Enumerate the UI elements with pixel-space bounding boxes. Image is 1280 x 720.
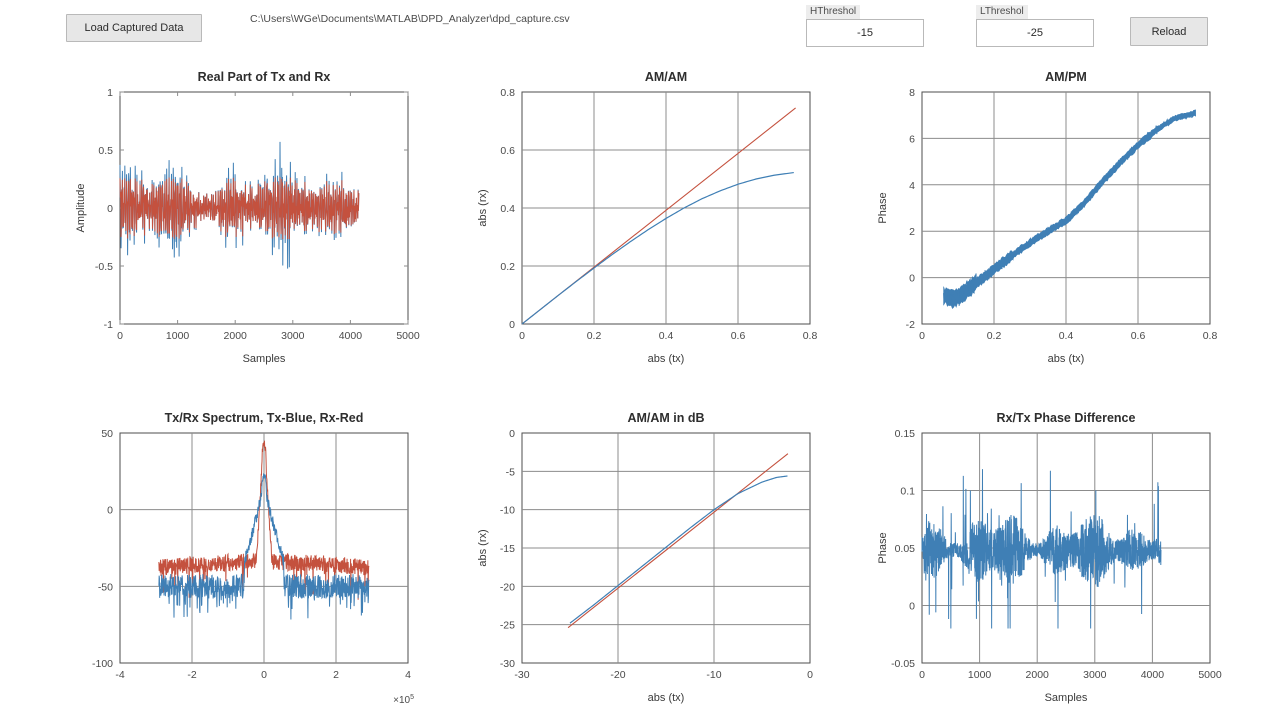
svg-text:-1: -1 xyxy=(104,319,113,331)
svg-text:Samples: Samples xyxy=(243,353,286,365)
svg-text:1000: 1000 xyxy=(968,669,992,681)
svg-text:0: 0 xyxy=(509,319,515,331)
svg-text:8: 8 xyxy=(909,87,915,99)
svg-text:AM/PM: AM/PM xyxy=(1045,70,1087,84)
svg-text:Samples: Samples xyxy=(1045,692,1088,704)
svg-text:0: 0 xyxy=(919,669,925,681)
svg-text:0.5: 0.5 xyxy=(98,145,113,157)
svg-text:0: 0 xyxy=(519,330,525,342)
svg-text:0: 0 xyxy=(919,330,925,342)
svg-text:0.8: 0.8 xyxy=(1203,330,1218,342)
svg-text:0.05: 0.05 xyxy=(895,543,916,555)
svg-text:2: 2 xyxy=(333,669,339,681)
plot-phase-diff: Rx/Tx Phase Difference010002000300040005… xyxy=(850,403,1250,720)
load-captured-data-button[interactable]: Load Captured Data xyxy=(66,14,202,42)
svg-text:-0.05: -0.05 xyxy=(891,658,915,670)
svg-text:abs (rx): abs (rx) xyxy=(477,529,489,566)
svg-text:0.6: 0.6 xyxy=(1131,330,1146,342)
svg-text:0.4: 0.4 xyxy=(659,330,674,342)
svg-text:-15: -15 xyxy=(500,543,515,555)
svg-text:0: 0 xyxy=(261,669,267,681)
svg-text:4: 4 xyxy=(405,669,411,681)
svg-text:4000: 4000 xyxy=(339,330,363,342)
svg-text:Phase: Phase xyxy=(877,532,889,563)
svg-text:Amplitude: Amplitude xyxy=(75,184,87,233)
reload-button[interactable]: Reload xyxy=(1130,17,1208,46)
svg-text:-0.5: -0.5 xyxy=(95,261,113,273)
svg-text:Tx/Rx Spectrum, Tx-Blue, Rx-Re: Tx/Rx Spectrum, Tx-Blue, Rx-Red xyxy=(165,411,364,425)
svg-text:4: 4 xyxy=(909,180,915,192)
svg-text:0: 0 xyxy=(909,273,915,285)
svg-text:0: 0 xyxy=(807,669,813,681)
svg-text:-5: -5 xyxy=(506,466,515,478)
svg-text:2: 2 xyxy=(909,226,915,238)
svg-text:50: 50 xyxy=(101,428,113,440)
svg-text:AM/AM in dB: AM/AM in dB xyxy=(627,411,704,425)
svg-text:-20: -20 xyxy=(610,669,625,681)
svg-text:0.2: 0.2 xyxy=(587,330,602,342)
plot-am-am-db: AM/AM in dB-30-20-100-30-25-20-15-10-50a… xyxy=(450,403,850,720)
svg-text:abs (rx): abs (rx) xyxy=(477,189,489,226)
svg-text:0.8: 0.8 xyxy=(500,87,515,99)
svg-text:0.1: 0.1 xyxy=(900,486,915,498)
svg-text:-10: -10 xyxy=(500,505,515,517)
svg-text:3000: 3000 xyxy=(1083,669,1107,681)
svg-text:2000: 2000 xyxy=(1026,669,1050,681)
svg-text:1: 1 xyxy=(107,87,113,99)
svg-text:Phase: Phase xyxy=(877,192,889,223)
svg-text:0.2: 0.2 xyxy=(987,330,1002,342)
lthreshold-label: LThreshol xyxy=(976,5,1028,19)
svg-text:-20: -20 xyxy=(500,581,515,593)
svg-text:0.4: 0.4 xyxy=(1059,330,1074,342)
hthreshold-input[interactable]: -15 xyxy=(806,19,924,47)
svg-text:1000: 1000 xyxy=(166,330,190,342)
svg-text:-2: -2 xyxy=(906,319,915,331)
svg-text:0: 0 xyxy=(107,505,113,517)
plot-am-pm: AM/PM00.20.40.60.8-202468abs (tx)Phase xyxy=(850,62,1250,392)
svg-text:-30: -30 xyxy=(500,658,515,670)
plot-am-am: AM/AM00.20.40.60.800.20.40.60.8abs (tx)a… xyxy=(450,62,850,392)
svg-text:0: 0 xyxy=(909,601,915,613)
svg-text:-2: -2 xyxy=(187,669,196,681)
svg-text:0: 0 xyxy=(107,203,113,215)
plot-spectrum: Tx/Rx Spectrum, Tx-Blue, Rx-Red-4-2024-1… xyxy=(48,403,448,720)
svg-text:abs (tx): abs (tx) xyxy=(1048,353,1085,365)
svg-text:0.6: 0.6 xyxy=(500,145,515,157)
svg-text:-4: -4 xyxy=(115,669,124,681)
svg-text:-25: -25 xyxy=(500,620,515,632)
svg-text:5000: 5000 xyxy=(1198,669,1222,681)
svg-text:-50: -50 xyxy=(98,581,113,593)
svg-text:0: 0 xyxy=(509,428,515,440)
toolbar: Load Captured Data C:\Users\WGe\Document… xyxy=(0,0,1280,56)
svg-text:abs (tx): abs (tx) xyxy=(648,692,685,704)
svg-text:-10: -10 xyxy=(706,669,721,681)
file-path-label: C:\Users\WGe\Documents\MATLAB\DPD_Analyz… xyxy=(250,13,670,29)
svg-text:5000: 5000 xyxy=(396,330,420,342)
svg-text:0.15: 0.15 xyxy=(895,428,916,440)
lthreshold-input[interactable]: -25 xyxy=(976,19,1094,47)
svg-text:0.4: 0.4 xyxy=(500,203,515,215)
svg-text:Rx/Tx Phase Difference: Rx/Tx Phase Difference xyxy=(997,411,1136,425)
svg-text:0.8: 0.8 xyxy=(803,330,818,342)
svg-text:Real Part of Tx and Rx: Real Part of Tx and Rx xyxy=(198,70,331,84)
svg-text:AM/AM: AM/AM xyxy=(645,70,687,84)
svg-text:2000: 2000 xyxy=(224,330,248,342)
svg-text:4000: 4000 xyxy=(1141,669,1165,681)
svg-text:0: 0 xyxy=(117,330,123,342)
svg-text:-100: -100 xyxy=(92,658,113,670)
svg-text:abs (tx): abs (tx) xyxy=(648,353,685,365)
svg-text:3000: 3000 xyxy=(281,330,305,342)
svg-text:-30: -30 xyxy=(514,669,529,681)
svg-text:6: 6 xyxy=(909,133,915,145)
svg-text:0.2: 0.2 xyxy=(500,261,515,273)
svg-text:0.6: 0.6 xyxy=(731,330,746,342)
svg-text:×105: ×105 xyxy=(393,694,414,706)
plot-real-part: Real Part of Tx and Rx010002000300040005… xyxy=(48,62,448,392)
hthreshold-label: HThreshol xyxy=(806,5,860,19)
